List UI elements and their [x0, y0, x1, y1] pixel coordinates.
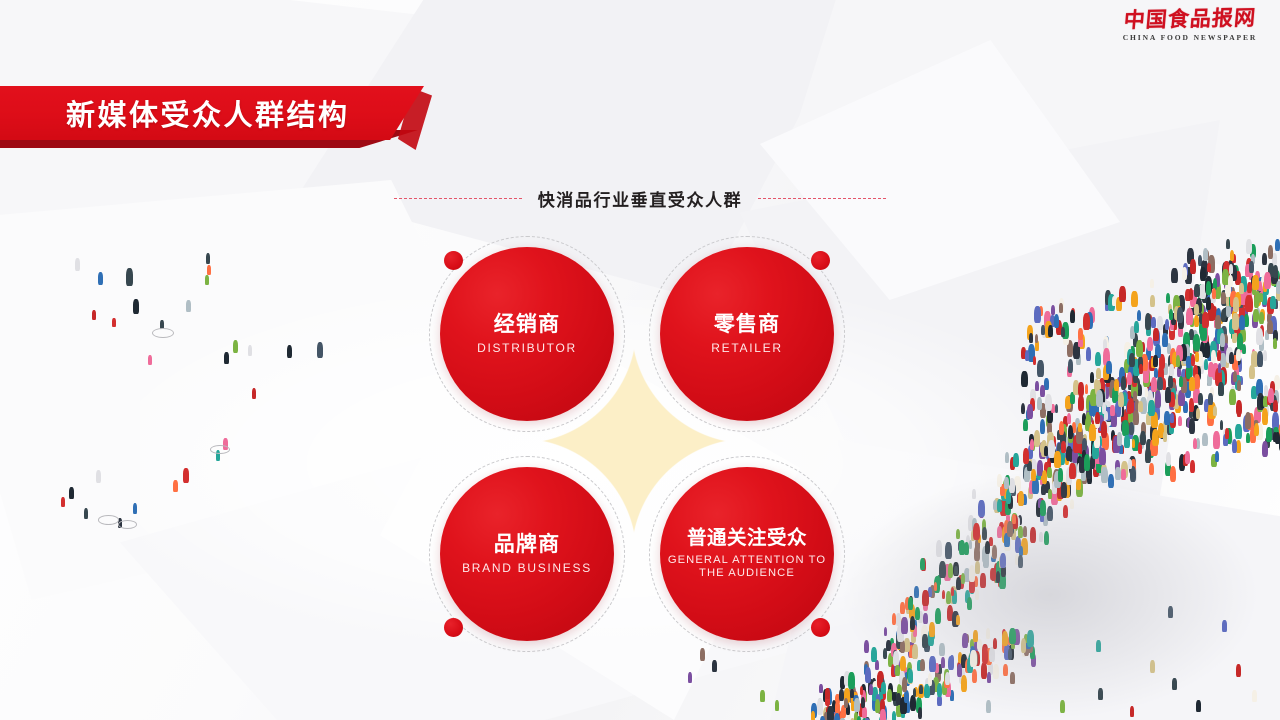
person-figure — [1239, 298, 1243, 308]
person-figure — [1213, 431, 1220, 449]
person-figure — [207, 265, 211, 275]
person-figure — [112, 318, 116, 327]
person-figure — [1226, 302, 1232, 317]
person-figure — [96, 470, 101, 483]
person-figure — [1268, 263, 1274, 277]
person-figure — [1212, 363, 1219, 381]
person-figure — [1247, 413, 1254, 430]
person-figure — [1273, 400, 1278, 412]
person-figure — [1199, 320, 1205, 335]
person-figure — [1254, 294, 1259, 307]
person-figure — [1208, 303, 1215, 321]
person-figure — [1252, 284, 1256, 295]
person-figure — [1203, 319, 1208, 332]
person-figure — [1171, 268, 1177, 284]
person-figure — [1183, 263, 1188, 276]
node-label-cn: 品牌商 — [494, 533, 561, 556]
person-figure — [1256, 308, 1260, 318]
person-figure — [1236, 349, 1241, 361]
node-disc: 品牌商 BRAND BUSINESS — [440, 467, 614, 641]
person-figure — [1200, 305, 1206, 321]
person-figure — [1221, 292, 1226, 304]
person-figure — [1231, 372, 1236, 385]
ring-marker-dot — [811, 251, 830, 270]
person-figure — [1206, 297, 1211, 311]
person-figure — [1210, 289, 1216, 303]
person-figure — [1235, 292, 1241, 306]
person-figure — [1273, 265, 1278, 277]
person-figure — [1259, 293, 1263, 302]
person-figure — [1211, 454, 1216, 467]
person-figure — [1220, 353, 1225, 366]
person-figure — [1226, 347, 1233, 364]
person-figure — [1271, 273, 1276, 286]
person-figure — [1230, 291, 1236, 307]
person-figure — [133, 503, 137, 514]
section-subtitle-row: 快消品行业垂直受众人群 — [0, 186, 1280, 211]
person-figure — [1222, 269, 1229, 286]
person-figure — [1215, 273, 1221, 287]
person-figure — [1223, 261, 1230, 279]
person-figure — [1255, 291, 1260, 304]
person-figure — [1222, 308, 1228, 322]
person-figure — [1249, 261, 1254, 273]
person-figure — [205, 275, 209, 285]
person-figure — [1200, 316, 1204, 325]
dashed-rule-left — [394, 198, 522, 199]
node-label-cn: 普通关注受众 — [687, 527, 807, 548]
person-figure — [1224, 307, 1228, 318]
person-figure — [1260, 325, 1265, 336]
person-figure — [1259, 292, 1263, 302]
node-label-en: BRAND BUSINESS — [462, 561, 592, 576]
person-figure — [1236, 440, 1241, 453]
person-figure — [1207, 347, 1211, 357]
person-figure — [1255, 290, 1261, 306]
person-figure — [1251, 254, 1255, 264]
person-figure — [1235, 424, 1241, 439]
person-figure — [1210, 387, 1214, 396]
person-figure — [1187, 248, 1194, 265]
person-figure — [1239, 376, 1243, 385]
person-figure — [1225, 428, 1229, 438]
person-figure — [1254, 407, 1261, 424]
person-figure — [1275, 432, 1280, 445]
person-figure — [1239, 303, 1245, 318]
person-figure — [1256, 423, 1263, 440]
person-figure — [1226, 428, 1232, 444]
person-figure — [1150, 279, 1154, 288]
person-figure — [1211, 350, 1216, 362]
person-figure — [1267, 297, 1274, 313]
person-figure — [1234, 322, 1239, 333]
person-figure — [69, 487, 74, 499]
person-figure — [1257, 351, 1263, 366]
person-figure — [1257, 292, 1262, 304]
person-figure — [1267, 395, 1271, 405]
person-figure — [1217, 350, 1221, 361]
person-figure — [1207, 373, 1212, 386]
person-figure — [1232, 310, 1236, 320]
person-figure — [1220, 420, 1224, 429]
node-disc: 零售商 RETAILER — [660, 247, 834, 421]
person-figure — [1223, 434, 1228, 446]
person-figure — [1269, 428, 1274, 440]
person-figure — [1245, 295, 1252, 313]
person-figure — [1230, 250, 1234, 261]
person-figure — [1190, 259, 1196, 274]
person-figure — [1276, 285, 1280, 301]
person-figure — [1261, 275, 1267, 289]
person-figure — [84, 508, 88, 519]
person-figure — [1242, 288, 1247, 301]
person-figure — [1225, 279, 1231, 295]
ring-marker-dot — [811, 618, 830, 637]
person-figure — [1270, 316, 1277, 334]
person-figure — [75, 258, 80, 271]
person-figure — [1245, 264, 1250, 277]
person-figure — [1235, 271, 1241, 285]
person-figure — [1242, 298, 1246, 307]
person-figure — [1231, 330, 1235, 340]
person-figure — [1259, 338, 1264, 351]
person-figure — [1232, 265, 1239, 282]
person-figure — [1198, 284, 1205, 301]
person-figure — [1258, 277, 1264, 293]
person-figure — [1218, 370, 1225, 388]
person-figure — [1273, 432, 1277, 442]
audience-structure-diagram: 经销商 DISTRIBUTOR 零售商 RETAILER 品牌商 BRAND B… — [415, 228, 875, 648]
person-figure — [1232, 254, 1236, 264]
person-figure — [1246, 433, 1250, 443]
person-figure — [1245, 288, 1252, 304]
person-figure — [1225, 358, 1229, 368]
person-figure — [1256, 328, 1263, 345]
person-figure — [1221, 290, 1226, 303]
person-figure — [1202, 290, 1207, 304]
person-figure — [1253, 420, 1258, 433]
person-figure — [1214, 318, 1218, 328]
person-figure — [1262, 441, 1268, 457]
person-figure — [1215, 315, 1221, 329]
person-figure — [1204, 399, 1209, 413]
person-figure — [1223, 429, 1228, 441]
person-figure — [1236, 314, 1240, 324]
ring-marker-dot — [444, 251, 463, 270]
person-figure — [1220, 340, 1227, 358]
node-label-en: DISTRIBUTOR — [477, 341, 577, 356]
person-figure — [1258, 281, 1262, 291]
node-distributor[interactable]: 经销商 DISTRIBUTOR — [429, 236, 625, 432]
person-figure — [1213, 406, 1217, 416]
person-figure — [1273, 338, 1277, 349]
person-figure — [1262, 253, 1267, 265]
person-figure — [1252, 312, 1258, 328]
node-label-cn: 经销商 — [494, 313, 561, 336]
person-figure — [1229, 319, 1235, 334]
node-label-cn: 零售商 — [714, 313, 781, 336]
person-figure — [118, 518, 122, 528]
person-figure — [1204, 334, 1209, 346]
person-figure — [1252, 349, 1256, 359]
person-figure — [1213, 337, 1219, 351]
person-figure — [1201, 260, 1208, 277]
person-figure — [1207, 263, 1211, 273]
person-figure — [1262, 401, 1268, 417]
person-figure — [1208, 255, 1215, 272]
person-figure — [1266, 427, 1272, 442]
person-figure — [1213, 278, 1218, 290]
person-figure — [1224, 277, 1229, 289]
person-figure — [1215, 451, 1219, 462]
person-figure — [1249, 269, 1253, 280]
person-figure — [1224, 437, 1228, 447]
person-figure — [1252, 275, 1258, 291]
person-figure — [1246, 258, 1252, 274]
person-figure — [1272, 253, 1277, 264]
person-figure — [1222, 262, 1229, 279]
person-figure — [1262, 408, 1269, 425]
person-figure — [1217, 328, 1223, 344]
person-figure — [1250, 418, 1254, 429]
person-figure — [1268, 322, 1273, 334]
person-figure — [1234, 347, 1241, 365]
person-figure — [1254, 292, 1259, 304]
person-figure — [1206, 295, 1213, 312]
person-figure — [1260, 396, 1265, 408]
person-figure — [1257, 393, 1264, 411]
person-figure — [1229, 352, 1234, 365]
person-figure — [1200, 324, 1207, 342]
person-figure — [1273, 330, 1277, 341]
person-figure — [1251, 276, 1255, 287]
node-label-en: RETAILER — [711, 341, 782, 356]
person-figure — [1252, 281, 1257, 294]
person-figure — [1270, 395, 1276, 411]
person-figure — [1263, 281, 1269, 296]
person-figure — [1240, 291, 1246, 305]
brand-logo: 中国食品报网 CHINA FOOD NEWSPAPER — [1114, 8, 1266, 42]
person-figure — [1222, 620, 1227, 632]
person-figure — [61, 497, 65, 507]
person-figure — [1245, 412, 1251, 428]
person-figure — [1204, 359, 1208, 370]
person-figure — [1225, 282, 1231, 297]
person-figure — [1274, 299, 1278, 309]
person-figure — [1221, 326, 1226, 340]
slide-canvas: 中国食品报网 CHINA FOOD NEWSPAPER 新媒体受众人群结构 快消… — [0, 0, 1280, 720]
person-figure — [1202, 312, 1208, 328]
person-figure — [1274, 375, 1280, 390]
person-figure — [1210, 341, 1217, 358]
person-figure — [1208, 402, 1215, 420]
person-figure — [1254, 423, 1260, 437]
person-figure — [1263, 396, 1267, 407]
person-figure — [1185, 267, 1192, 284]
node-brand-business[interactable]: 品牌商 BRAND BUSINESS — [429, 456, 625, 652]
person-figure — [1275, 239, 1280, 251]
person-figure — [1220, 333, 1227, 351]
person-figure — [1232, 320, 1236, 329]
person-figure — [1201, 318, 1207, 333]
person-figure — [1249, 365, 1255, 380]
person-figure — [1237, 333, 1244, 350]
person-figure — [1182, 267, 1187, 280]
person-figure — [1269, 392, 1275, 408]
person-figure — [1229, 389, 1236, 406]
person-figure — [1271, 267, 1278, 284]
person-figure — [1250, 427, 1256, 442]
logo-chinese-text: 中国食品报网 — [1113, 6, 1267, 30]
person-figure — [1221, 290, 1227, 306]
person-figure — [1229, 435, 1233, 445]
person-figure — [1215, 368, 1222, 385]
person-figure — [1225, 275, 1230, 288]
person-figure — [1243, 415, 1250, 433]
person-figure — [1270, 296, 1275, 310]
person-figure — [1207, 375, 1212, 386]
person-figure — [1232, 296, 1237, 309]
person-figure — [1224, 343, 1228, 352]
person-figure — [1247, 282, 1252, 294]
person-figure — [1244, 314, 1249, 327]
person-figure — [1273, 390, 1279, 404]
person-figure — [1270, 381, 1275, 394]
person-figure — [1235, 375, 1241, 389]
person-figure — [1264, 272, 1271, 289]
person-figure — [1267, 320, 1273, 334]
person-figure — [1276, 281, 1280, 295]
person-figure — [1209, 283, 1214, 295]
person-figure — [1202, 326, 1209, 343]
person-figure — [1257, 284, 1263, 299]
person-figure — [1205, 276, 1212, 294]
person-figure — [1218, 381, 1224, 395]
person-figure — [1237, 380, 1241, 391]
person-figure — [1237, 408, 1241, 417]
person-figure — [1234, 365, 1239, 378]
person-figure — [1237, 326, 1244, 344]
person-figure — [1263, 281, 1267, 292]
person-figure — [1231, 287, 1236, 298]
person-figure — [1239, 315, 1245, 331]
person-figure — [126, 268, 133, 286]
person-figure — [1202, 313, 1208, 329]
person-figure — [1262, 292, 1267, 305]
person-figure — [1243, 308, 1248, 319]
person-figure — [1189, 288, 1194, 300]
person-figure — [1198, 255, 1202, 266]
person-figure — [1200, 267, 1206, 281]
person-figure — [1208, 393, 1213, 405]
person-figure — [1257, 289, 1261, 299]
person-figure — [1242, 344, 1246, 355]
title-banner: 新媒体受众人群结构 — [0, 86, 440, 158]
person-figure — [1258, 284, 1265, 301]
person-figure — [1208, 362, 1214, 377]
person-figure — [1265, 437, 1269, 448]
page-title: 新媒体受众人群结构 — [66, 86, 350, 140]
person-figure — [1207, 346, 1213, 361]
person-figure — [1203, 248, 1208, 261]
person-figure — [1226, 295, 1230, 305]
person-figure — [1228, 275, 1233, 288]
person-figure — [133, 299, 139, 314]
person-figure — [1226, 298, 1231, 311]
person-figure — [1265, 330, 1269, 340]
person-figure — [1207, 409, 1214, 427]
person-figure — [1237, 341, 1242, 353]
person-figure — [1236, 400, 1242, 416]
person-figure — [1212, 288, 1216, 299]
person-figure — [1253, 425, 1258, 437]
person-figure — [1267, 312, 1272, 323]
person-figure — [1256, 379, 1263, 396]
person-figure — [1229, 294, 1234, 307]
person-figure — [1260, 309, 1265, 321]
person-figure — [1240, 276, 1246, 292]
person-figure — [1227, 298, 1233, 314]
person-figure — [1255, 271, 1260, 283]
bicycle-figure — [98, 515, 119, 525]
node-label-en: GENERAL ATTENTION TO THE AUDIENCE — [660, 554, 834, 581]
person-figure — [1259, 312, 1264, 324]
person-figure — [1232, 330, 1237, 342]
person-figure — [1218, 313, 1222, 324]
person-figure — [1250, 244, 1256, 259]
person-figure — [1232, 313, 1239, 330]
person-figure — [1226, 296, 1230, 307]
person-figure — [1264, 385, 1268, 395]
bicycle-figure — [118, 520, 137, 529]
person-figure — [1194, 284, 1199, 297]
person-figure — [1204, 341, 1211, 357]
person-figure — [1252, 690, 1257, 702]
ring-marker-dot — [444, 618, 463, 637]
person-figure — [1268, 388, 1274, 404]
person-figure — [1199, 284, 1205, 300]
person-figure — [1236, 664, 1241, 677]
person-figure — [92, 310, 96, 320]
person-figure — [1218, 363, 1222, 372]
person-figure — [1226, 239, 1230, 249]
person-figure — [1232, 355, 1238, 370]
person-figure — [1240, 328, 1246, 342]
person-figure — [1246, 239, 1252, 254]
node-retailer[interactable]: 零售商 RETAILER — [649, 236, 845, 432]
person-figure — [1206, 281, 1211, 294]
person-figure — [1220, 333, 1225, 347]
person-figure — [1262, 295, 1267, 307]
person-figure — [1220, 367, 1227, 385]
person-figure — [206, 253, 210, 264]
dashed-rule-right — [758, 198, 886, 199]
person-figure — [1212, 306, 1217, 319]
person-figure — [1231, 386, 1235, 396]
node-general-attention[interactable]: 普通关注受众 GENERAL ATTENTION TO THE AUDIENCE — [649, 456, 845, 652]
person-figure — [1214, 281, 1221, 299]
person-figure — [1239, 283, 1243, 294]
logo-english-text: CHINA FOOD NEWSPAPER — [1114, 34, 1266, 42]
person-figure — [1223, 334, 1228, 346]
person-figure — [1221, 309, 1226, 323]
person-figure — [1236, 356, 1242, 372]
person-figure — [1253, 275, 1257, 285]
person-figure — [1273, 270, 1280, 287]
person-figure — [1233, 297, 1239, 312]
person-figure — [1228, 260, 1234, 274]
person-figure — [1232, 439, 1238, 453]
